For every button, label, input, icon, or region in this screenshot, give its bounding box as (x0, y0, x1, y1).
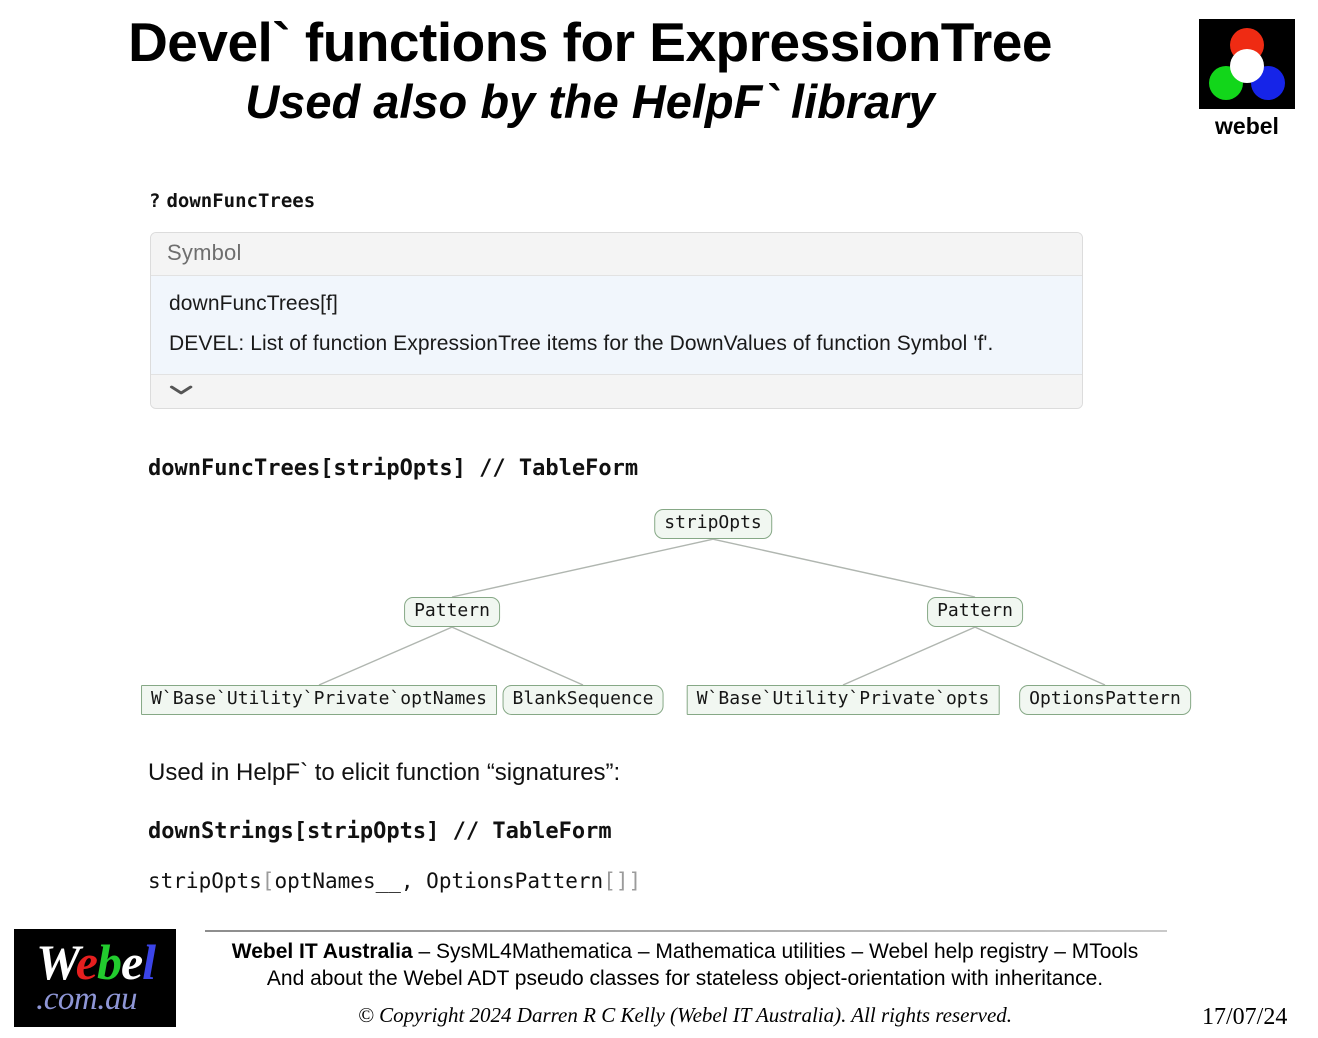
webel-header-logo: webel (1199, 19, 1295, 140)
logo-dot-white-icon (1230, 49, 1264, 83)
tree-edge-root-p2 (713, 539, 975, 597)
tree-edge-root-p1 (452, 539, 713, 597)
footer-copyright: © Copyright 2024 Darren R C Kelly (Webel… (190, 1003, 1180, 1028)
expression-tree-diagram: stripOptsPatternPatternW`Base`Utility`Pr… (140, 495, 1202, 725)
code-line-stripopts-signature: stripOpts[optNames__, OptionsPattern[]] (148, 869, 641, 893)
webel-rgb-mark-icon (1199, 19, 1295, 109)
code-open-bracket: [ (262, 869, 275, 893)
wordmark-char-l: l (142, 934, 155, 990)
query-symbol-name: downFuncTrees (166, 190, 315, 212)
title-block: Devel` functions for ExpressionTree Used… (0, 0, 1180, 126)
info-box-footer[interactable] (151, 375, 1082, 408)
footer-divider (205, 930, 1167, 932)
code-args: optNames__, OptionsPattern (274, 869, 603, 893)
footer-secondary-line: And about the Webel ADT pseudo classes f… (190, 967, 1180, 991)
chevron-down-icon[interactable] (169, 380, 193, 401)
prose-used-in-helpf: Used in HelpF` to elicit function “signa… (148, 759, 620, 787)
tree-edge-p2-l4 (975, 627, 1105, 685)
tree-node-l2[interactable]: BlankSequence (503, 685, 664, 715)
symbol-info-box: Symbol downFuncTrees[f] DEVEL: List of f… (150, 232, 1083, 409)
footer-text-block: Webel IT Australia – SysML4Mathematica –… (190, 940, 1180, 1028)
tree-node-p1[interactable]: Pattern (404, 597, 500, 627)
info-box-header-label: Symbol (151, 233, 1082, 276)
code-inner-brackets: [] (603, 869, 628, 893)
tree-node-l4[interactable]: OptionsPattern (1019, 685, 1191, 715)
query-prompt-symbol: ? (149, 190, 160, 212)
page-title: Devel` functions for ExpressionTree (0, 14, 1180, 71)
footer-brand-line: Webel IT Australia – SysML4Mathematica –… (190, 940, 1180, 964)
tree-node-l1[interactable]: W`Base`Utility`Private`optNames (141, 685, 497, 715)
webel-footer-logo: Webel .com.au (14, 929, 176, 1027)
footer-date: 17/07/24 (1202, 1004, 1287, 1031)
tree-node-root[interactable]: stripOpts (654, 509, 772, 539)
tree-node-l3[interactable]: W`Base`Utility`Private`opts (687, 685, 1000, 715)
tree-edge-p1-l1 (319, 627, 452, 685)
tree-edge-p1-l2 (452, 627, 583, 685)
info-box-body: downFuncTrees[f] DEVEL: List of function… (151, 276, 1082, 375)
webel-logo-label: webel (1199, 113, 1295, 140)
code-line-downstrings: downStrings[stripOpts] // TableForm (148, 819, 612, 844)
webel-domain-text: .com.au (36, 981, 137, 1018)
query-line: ?downFuncTrees (149, 190, 315, 212)
usage-signature: downFuncTrees[f] (169, 292, 1064, 316)
footer-brand-name: Webel IT Australia (232, 940, 413, 963)
page-subtitle: Used also by the HelpF` library (0, 77, 1180, 126)
tree-node-p2[interactable]: Pattern (927, 597, 1023, 627)
usage-description: DEVEL: List of function ExpressionTree i… (169, 332, 1064, 356)
code-head: stripOpts (148, 869, 262, 893)
code-line-downfunctrees: downFuncTrees[stripOpts] // TableForm (148, 456, 638, 481)
footer-tagline: – SysML4Mathematica – Mathematica utilit… (413, 940, 1139, 963)
tree-edge-p2-l3 (843, 627, 975, 685)
code-close-bracket: ] (628, 869, 641, 893)
